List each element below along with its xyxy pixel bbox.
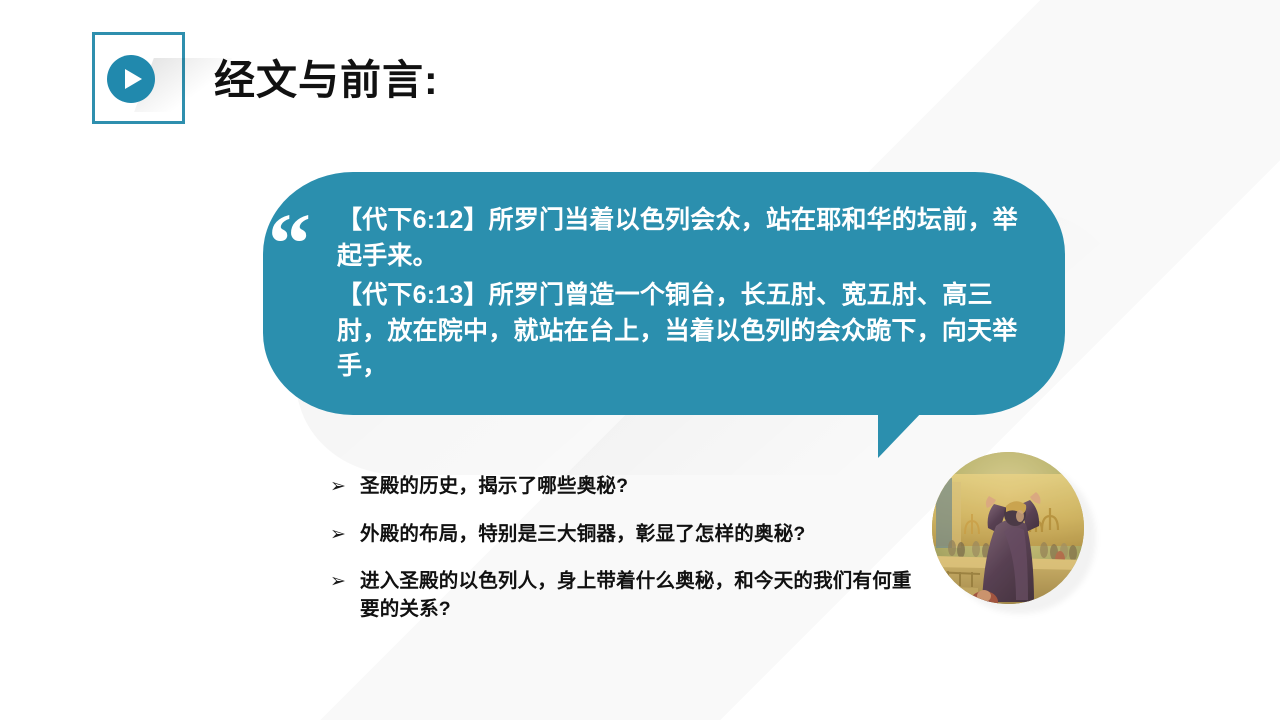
list-item: ➢ 圣殿的历史，揭示了哪些奥秘? [330,473,930,501]
arrow-bullet-icon: ➢ [330,473,360,500]
list-item-label: 圣殿的历史，揭示了哪些奥秘? [360,473,930,501]
play-triangle-glyph [125,69,142,89]
verse-line: 【代下6:13】所罗门曾造一个铜台，长五肘、宽五肘、高三肘，放在院中，就站在台上… [337,278,1027,385]
slide-canvas: 经文与前言: “ 【代下6:12】所罗门当着以色列会众，站在耶和华的坛前，举起手… [0,0,1280,720]
slide-header: 经文与前言: [92,32,512,128]
solomon-praying-in-temple-illustration [932,452,1084,604]
page-title: 经文与前言: [214,46,439,106]
arrow-bullet-icon: ➢ [330,521,360,548]
arrow-bullet-icon: ➢ [330,568,360,595]
quote-bubble-tail [878,410,924,458]
list-item: ➢ 外殿的布局，特别是三大铜器，彰显了怎样的奥秘? [330,521,930,549]
list-item-label: 外殿的布局，特别是三大铜器，彰显了怎样的奥秘? [360,521,930,549]
list-item: ➢ 进入圣殿的以色列人，身上带着什么奥秘，和今天的我们有何重要的关系? [330,568,930,623]
list-item-label: 进入圣殿的以色列人，身上带着什么奥秘，和今天的我们有何重要的关系? [360,568,930,623]
verse-line: 【代下6:12】所罗门当着以色列会众，站在耶和华的坛前，举起手来。 [337,203,1027,274]
photo-artwork [932,452,1084,604]
quote-bubble-text: 【代下6:12】所罗门当着以色列会众，站在耶和华的坛前，举起手来。 【代下6:1… [337,203,1027,389]
question-list: ➢ 圣殿的历史，揭示了哪些奥秘? ➢ 外殿的布局，特别是三大铜器，彰显了怎样的奥… [330,473,930,644]
quote-mark-icon: “ [268,200,307,286]
play-button-icon [107,55,155,103]
